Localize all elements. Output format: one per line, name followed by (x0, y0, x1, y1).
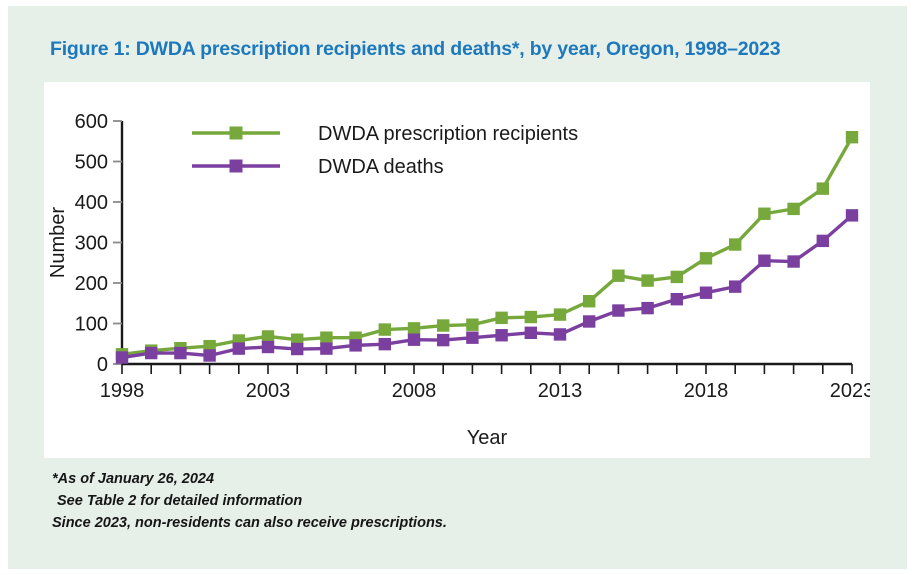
data-point-marker (379, 338, 391, 350)
x-tick-label: 2008 (392, 380, 437, 402)
data-point-marker (729, 238, 741, 250)
data-point-marker (846, 209, 858, 221)
data-point-marker (408, 322, 420, 334)
data-point-marker (641, 302, 653, 314)
data-point-marker (525, 311, 537, 323)
data-point-marker (671, 271, 683, 283)
data-point-marker (554, 328, 566, 340)
data-point-marker (671, 293, 683, 305)
data-point-marker (612, 270, 624, 282)
data-point-marker (262, 341, 274, 353)
data-point-marker (583, 315, 595, 327)
data-point-marker (758, 208, 770, 220)
x-tick-label: 2023 (830, 380, 870, 402)
legend-label-1: DWDA prescription recipients (318, 123, 578, 145)
data-point-marker (233, 342, 245, 354)
data-point-marker (612, 304, 624, 316)
data-point-marker (758, 255, 770, 267)
x-tick-label: 2018 (684, 380, 729, 402)
legend-label-2: DWDA deaths (318, 156, 444, 178)
data-point-marker (495, 329, 507, 341)
y-tick-label: 0 (97, 354, 108, 376)
footnote-asterisk: *As of January 26, 2024 (52, 468, 852, 490)
data-point-marker (116, 351, 128, 363)
y-tick-label: 300 (75, 233, 108, 255)
y-tick-label: 100 (75, 314, 108, 336)
data-point-marker (437, 334, 449, 346)
data-point-marker (729, 280, 741, 292)
y-tick-label: 200 (75, 273, 108, 295)
legend-marker-2 (230, 160, 243, 173)
x-tick-label: 1998 (100, 380, 145, 402)
data-point-marker (320, 331, 332, 343)
data-point-marker (291, 343, 303, 355)
y-tick-label: 500 (75, 152, 108, 174)
footnote-block: *As of January 26, 2024 See Table 2 for … (52, 468, 852, 534)
data-point-marker (174, 347, 186, 359)
data-point-marker (437, 319, 449, 331)
data-point-marker (495, 312, 507, 324)
data-point-marker (408, 334, 420, 346)
data-point-marker (787, 255, 799, 267)
y-tick-label: 400 (75, 192, 108, 214)
x-tick-label: 2003 (246, 380, 291, 402)
data-point-marker (525, 327, 537, 339)
data-point-marker (700, 287, 712, 299)
data-point-marker (466, 331, 478, 343)
x-tick-label: 2013 (538, 380, 583, 402)
data-point-marker (349, 339, 361, 351)
figure-card: Figure 1: DWDA prescription recipients a… (8, 6, 907, 569)
legend-marker-1 (230, 127, 243, 140)
y-tick-label: 600 (75, 111, 108, 133)
data-point-marker (466, 319, 478, 331)
data-point-marker (817, 235, 829, 247)
figure-title: Figure 1: DWDA prescription recipients a… (50, 38, 880, 61)
line-chart: 0100200300400500600199820032008201320182… (44, 82, 870, 458)
y-axis-title: Number (47, 207, 69, 278)
chart-plot-panel: 0100200300400500600199820032008201320182… (44, 82, 870, 458)
footnote-table-ref: See Table 2 for detailed information (52, 490, 852, 512)
data-point-marker (145, 347, 157, 359)
data-point-marker (846, 131, 858, 143)
footnote-nonresidents: Since 2023, non-residents can also recei… (52, 512, 852, 534)
data-point-marker (700, 252, 712, 264)
data-point-marker (817, 182, 829, 194)
data-point-marker (379, 323, 391, 335)
data-point-marker (787, 203, 799, 215)
data-point-marker (641, 274, 653, 286)
data-point-marker (203, 349, 215, 361)
data-point-marker (320, 342, 332, 354)
data-point-marker (554, 308, 566, 320)
x-axis-title: Year (467, 427, 508, 449)
data-point-marker (583, 295, 595, 307)
